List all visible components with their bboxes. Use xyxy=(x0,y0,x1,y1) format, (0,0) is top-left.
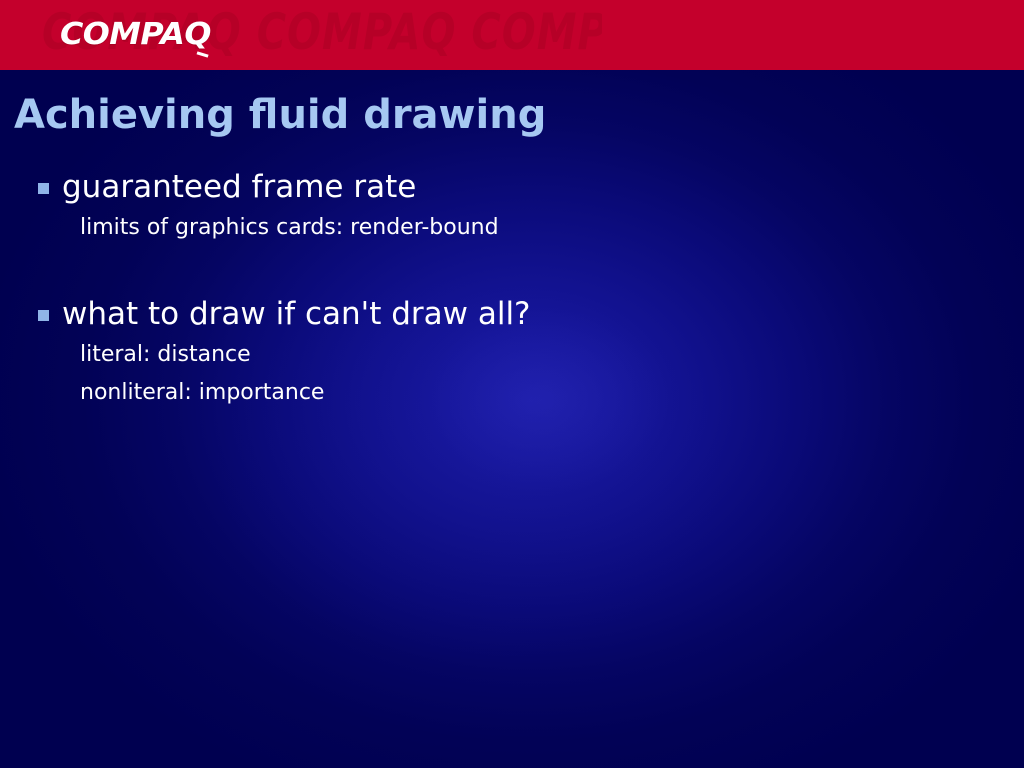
square-bullet-icon xyxy=(38,310,49,321)
compaq-logo: COMPAQ xyxy=(60,19,211,51)
bullet-group: what to draw if can't draw all? literal:… xyxy=(0,292,1024,412)
presentation-slide: COMPAQ COMPAQ COMPAQ COMPAQ Achieving fl… xyxy=(0,0,1024,768)
bullet-label: what to draw if can't draw all? xyxy=(62,292,1024,336)
compaq-banner: COMPAQ COMPAQ COMPAQ COMPAQ xyxy=(0,0,1024,70)
bullet-subline: limits of graphics cards: render-bound xyxy=(0,209,1024,247)
bullet-subline: literal: distance xyxy=(0,336,1024,374)
compaq-logo-tail: Q xyxy=(184,19,211,51)
slide-title: Achieving fluid drawing xyxy=(14,90,1004,140)
slide-body: guaranteed frame rate limits of graphics… xyxy=(0,165,1024,412)
compaq-logo-text: COMPA xyxy=(60,17,184,52)
bullet-group: guaranteed frame rate limits of graphics… xyxy=(0,165,1024,247)
bullet-item: what to draw if can't draw all? xyxy=(0,292,1024,336)
square-bullet-icon xyxy=(38,183,49,194)
bullet-subline: nonliteral: importance xyxy=(0,374,1024,412)
bullet-label: guaranteed frame rate xyxy=(62,165,1024,209)
bullet-item: guaranteed frame rate xyxy=(0,165,1024,209)
